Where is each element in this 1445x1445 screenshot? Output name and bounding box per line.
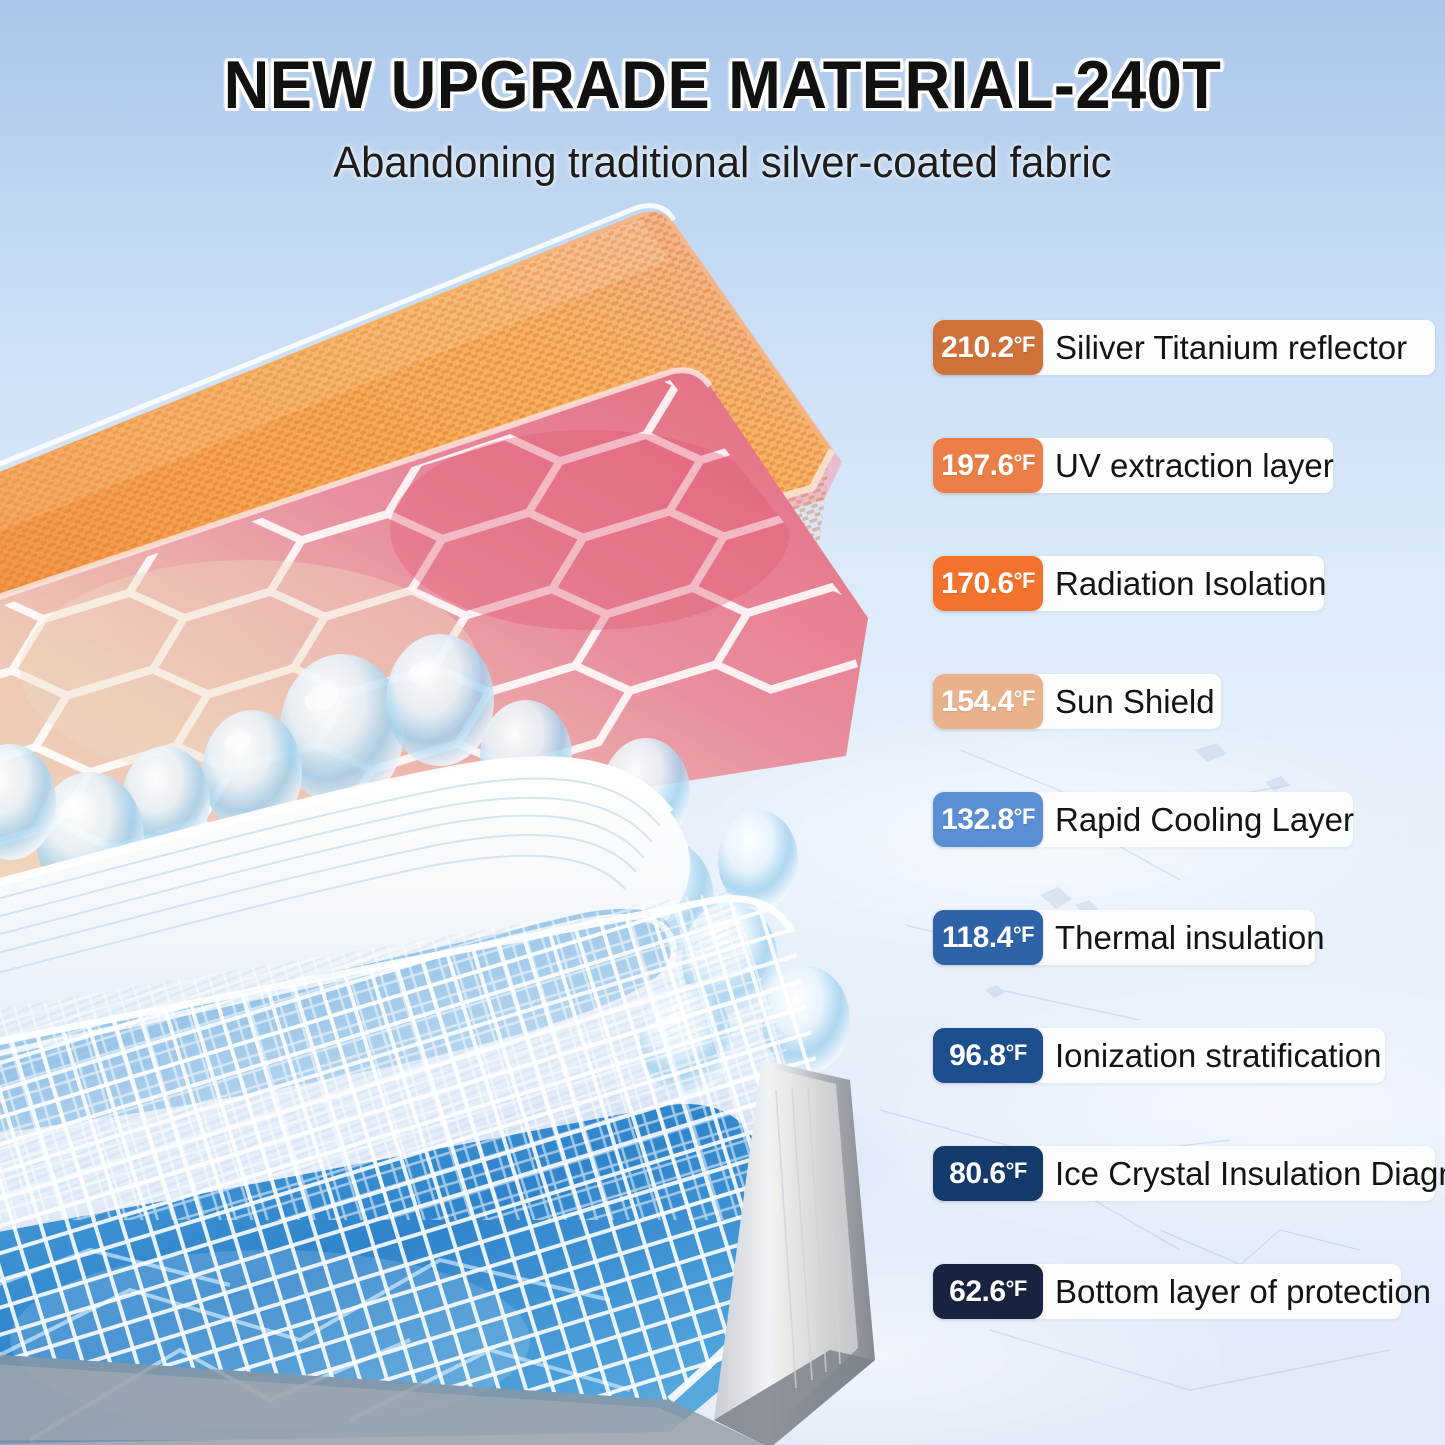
temperature-value: 154.4 (941, 685, 1014, 719)
legend-row: 132.8°FRapid Cooling Layer (933, 792, 1445, 910)
temperature-badge: 197.6°F (933, 438, 1043, 493)
temperature-badge: 62.6°F (933, 1264, 1043, 1319)
temperature-badge: 210.2°F (933, 320, 1043, 375)
infographic-canvas: NEW UPGRADE MATERIAL-240T Abandoning tra… (0, 0, 1445, 1445)
legend-row: 118.4°FThermal insulation (933, 910, 1445, 1028)
temperature-unit: °F (1006, 1042, 1027, 1064)
temperature-badge: 132.8°F (933, 792, 1043, 847)
legend-row: 197.6°FUV extraction layer (933, 438, 1445, 556)
legend-row: 170.6°FRadiation Isolation (933, 556, 1445, 674)
temperature-badge: 80.6°F (933, 1146, 1043, 1201)
temperature-value: 96.8 (949, 1039, 1005, 1073)
temperature-legend-list: 210.2°FSiliver Titanium reflector197.6°F… (933, 320, 1445, 1382)
page-title: NEW UPGRADE MATERIAL-240T (51, 46, 1395, 124)
temperature-value: 132.8 (941, 803, 1014, 837)
legend-pill[interactable]: 197.6°FUV extraction layer (933, 438, 1333, 493)
legend-pill[interactable]: 154.4°FSun Shield (933, 674, 1221, 729)
temperature-unit: °F (1006, 1278, 1027, 1300)
layer-label: Ice Crystal Insulation Diagram (1043, 1155, 1445, 1193)
legend-pill[interactable]: 170.6°FRadiation Isolation (933, 556, 1324, 611)
layer-label: Siliver Titanium reflector (1043, 329, 1421, 367)
legend-pill[interactable]: 118.4°FThermal insulation (933, 910, 1315, 965)
layer-label: UV extraction layer (1043, 447, 1348, 485)
temperature-unit: °F (1006, 1160, 1027, 1182)
layer-label: Ionization stratification (1043, 1037, 1396, 1075)
layer-label: Sun Shield (1043, 683, 1229, 721)
temperature-unit: °F (1014, 334, 1035, 356)
legend-pill[interactable]: 96.8°FIonization stratification (933, 1028, 1385, 1083)
legend-row: 154.4°FSun Shield (933, 674, 1445, 792)
legend-row: 96.8°FIonization stratification (933, 1028, 1445, 1146)
temperature-badge: 154.4°F (933, 674, 1043, 729)
legend-pill[interactable]: 80.6°FIce Crystal Insulation Diagram (933, 1146, 1435, 1201)
legend-row: 80.6°FIce Crystal Insulation Diagram (933, 1146, 1445, 1264)
temperature-value: 118.4 (942, 921, 1013, 955)
temperature-value: 170.6 (941, 567, 1014, 601)
legend-row: 210.2°FSiliver Titanium reflector (933, 320, 1445, 438)
legend-pill[interactable]: 62.6°FBottom layer of protection (933, 1264, 1401, 1319)
layer-label: Radiation Isolation (1043, 565, 1341, 603)
temperature-value: 210.2 (941, 331, 1014, 365)
temperature-badge: 170.6°F (933, 556, 1043, 611)
temperature-value: 62.6 (949, 1275, 1005, 1309)
temperature-value: 197.6 (941, 449, 1014, 483)
layer-label: Thermal insulation (1043, 919, 1339, 957)
temperature-badge: 118.4°F (933, 910, 1043, 965)
temperature-unit: °F (1014, 452, 1035, 474)
temperature-unit: °F (1014, 806, 1035, 828)
fabric-layer-illustration (0, 200, 930, 1445)
header-block: NEW UPGRADE MATERIAL-240T Abandoning tra… (0, 46, 1445, 188)
layer-label: Rapid Cooling Layer (1043, 801, 1368, 839)
legend-pill[interactable]: 210.2°FSiliver Titanium reflector (933, 320, 1435, 375)
temperature-unit: °F (1014, 688, 1035, 710)
temperature-badge: 96.8°F (933, 1028, 1043, 1083)
page-subtitle: Abandoning traditional silver-coated fab… (36, 138, 1409, 188)
legend-row: 62.6°FBottom layer of protection (933, 1264, 1445, 1382)
temperature-unit: °F (1014, 570, 1035, 592)
temperature-unit: °F (1013, 924, 1034, 946)
temperature-value: 80.6 (949, 1157, 1005, 1191)
layer-label: Bottom layer of protection (1043, 1273, 1445, 1311)
legend-pill[interactable]: 132.8°FRapid Cooling Layer (933, 792, 1353, 847)
